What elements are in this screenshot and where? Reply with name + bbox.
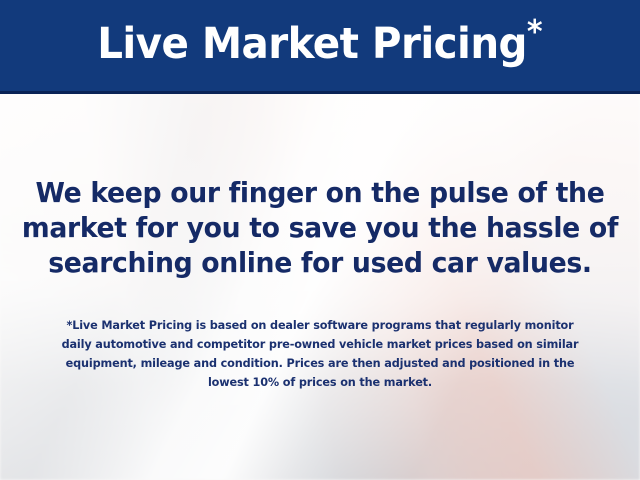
header-bar: Live Market Pricing* xyxy=(0,0,640,94)
disclaimer-line-3: equipment, mileage and condition. Prices… xyxy=(10,354,631,373)
disclaimer-line-1: *Live Market Pricing is based on dealer … xyxy=(10,316,631,335)
page-title-asterisk: * xyxy=(527,12,542,50)
page-title-text: Live Market Pricing xyxy=(98,19,528,69)
headline-line-3: searching online for used car values. xyxy=(10,246,631,281)
headline-block: We keep our finger on the pulse of the m… xyxy=(10,176,631,281)
disclaimer-line-2: daily automotive and competitor pre-owne… xyxy=(10,335,631,354)
headline-line-1: We keep our finger on the pulse of the xyxy=(10,176,631,211)
disclaimer-line-4: lowest 10% of prices on the market. xyxy=(10,373,631,392)
headline-line-2: market for you to save you the hassle of xyxy=(10,211,631,246)
disclaimer-block: *Live Market Pricing is based on dealer … xyxy=(10,316,631,392)
live-market-pricing-banner: Live Market Pricing* We keep our finger … xyxy=(0,0,640,480)
page-title: Live Market Pricing* xyxy=(98,23,543,69)
